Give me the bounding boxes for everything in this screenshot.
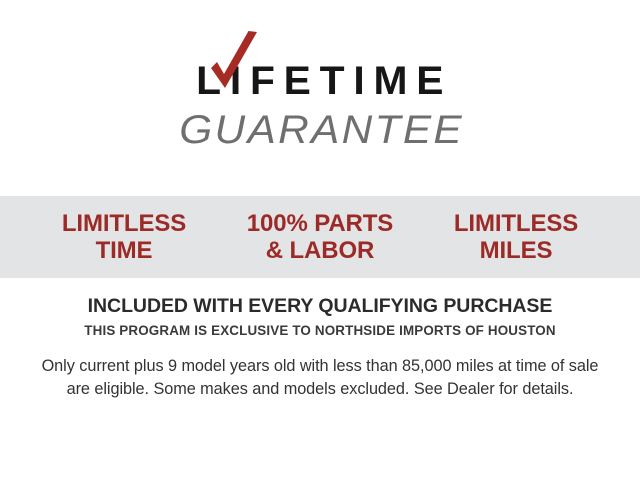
feature-item-limitless-miles: LIMITLESS MILES: [418, 210, 614, 264]
footer-block: INCLUDED WITH EVERY QUALIFYING PURCHASE …: [0, 278, 640, 480]
footer-subheadline: THIS PROGRAM IS EXCLUSIVE TO NORTHSIDE I…: [84, 324, 555, 337]
logo-block: LIFETIME GUARANTEE: [0, 0, 640, 196]
wordmark-lifetime: LIFETIME: [188, 61, 453, 101]
footer-disclaimer: Only current plus 9 model years old with…: [40, 355, 600, 402]
wordmark-guarantee: GUARANTEE: [176, 110, 463, 150]
feature-item-parts-labor: 100% PARTS & LABOR: [222, 210, 418, 264]
lifetime-guarantee-ad: LIFETIME GUARANTEE LIMITLESS TIME 100% P…: [0, 0, 640, 480]
feature-item-limitless-time: LIMITLESS TIME: [26, 210, 222, 264]
feature-band: LIMITLESS TIME 100% PARTS & LABOR LIMITL…: [0, 196, 640, 278]
footer-headline: INCLUDED WITH EVERY QUALIFYING PURCHASE: [88, 297, 553, 317]
